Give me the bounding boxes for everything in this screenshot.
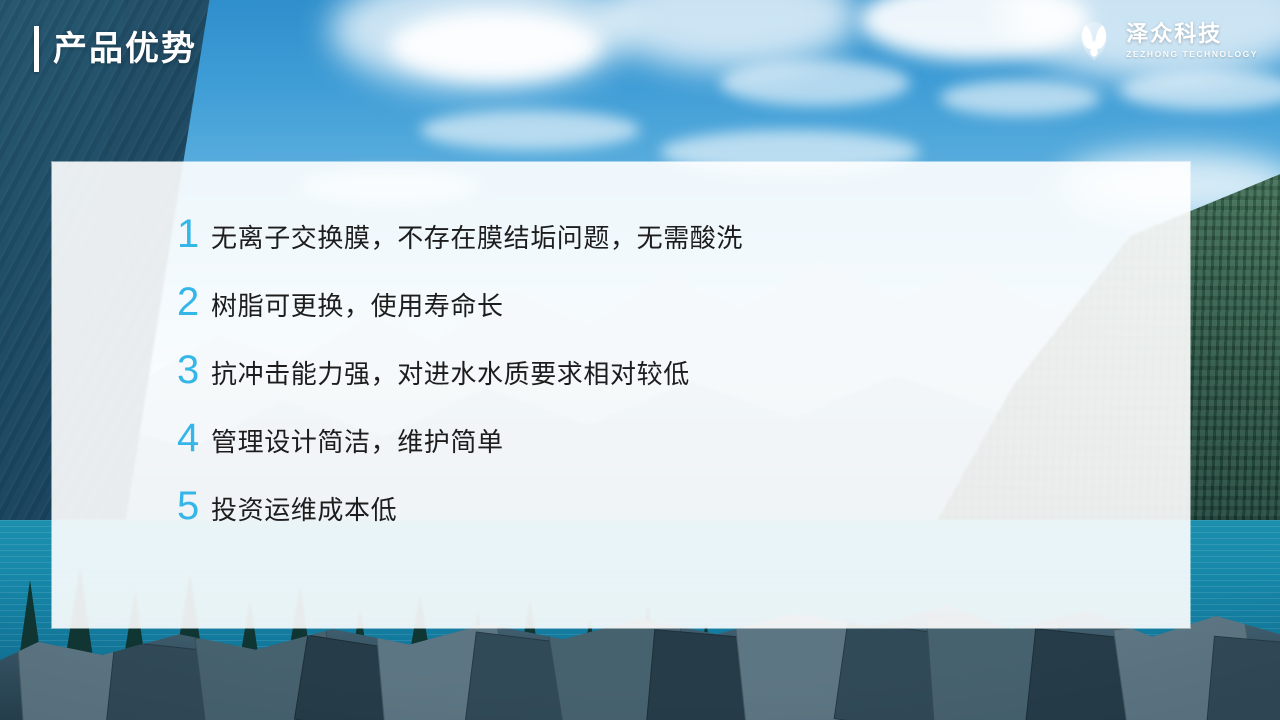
title-label: 产品优势: [53, 32, 197, 66]
logo-text-block: 泽众科技 ZEZHONG TECHNOLOGY: [1126, 23, 1258, 59]
slide-canvas: 产品优势 泽众科技 ZEZHONG TECHNOLOGY 1 无离子交换膜，不存…: [0, 0, 1280, 720]
list-item-label: 无离子交换膜，不存在膜结垢问题，无需酸洗: [211, 225, 743, 251]
company-logo: 泽众科技 ZEZHONG TECHNOLOGY: [1071, 18, 1258, 64]
list-item-number: 1: [177, 214, 211, 254]
water-droplet-logo-icon: [1071, 18, 1117, 64]
list-item-number: 4: [177, 418, 211, 458]
advantages-list: 1 无离子交换膜，不存在膜结垢问题，无需酸洗 2 树脂可更换，使用寿命长 3 抗…: [177, 214, 1150, 554]
list-item: 1 无离子交换膜，不存在膜结垢问题，无需酸洗: [177, 214, 1150, 282]
logo-name-en: ZEZHONG TECHNOLOGY: [1126, 50, 1258, 59]
list-item-number: 3: [177, 350, 211, 390]
content-panel: 1 无离子交换膜，不存在膜结垢问题，无需酸洗 2 树脂可更换，使用寿命长 3 抗…: [52, 162, 1190, 628]
list-item: 2 树脂可更换，使用寿命长: [177, 282, 1150, 350]
page-title: 产品优势: [34, 26, 197, 72]
list-item: 3 抗冲击能力强，对进水水质要求相对较低: [177, 350, 1150, 418]
list-item-label: 管理设计简洁，维护简单: [211, 429, 504, 455]
list-item-label: 投资运维成本低: [211, 497, 397, 523]
list-item: 4 管理设计简洁，维护简单: [177, 418, 1150, 486]
title-accent-bar: [34, 26, 39, 72]
logo-name-cn: 泽众科技: [1126, 23, 1258, 45]
list-item-label: 抗冲击能力强，对进水水质要求相对较低: [211, 361, 690, 387]
list-item: 5 投资运维成本低: [177, 486, 1150, 554]
list-item-label: 树脂可更换，使用寿命长: [211, 293, 504, 319]
list-item-number: 5: [177, 486, 211, 526]
list-item-number: 2: [177, 282, 211, 322]
